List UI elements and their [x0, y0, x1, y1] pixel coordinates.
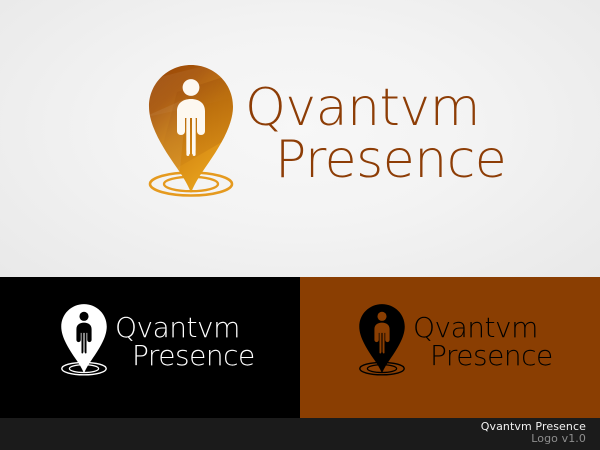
wordmark: Qvantvm Presence: [245, 84, 506, 186]
location-pin-icon: [143, 62, 239, 204]
swatch-panel-brown: Qvantvm Presence: [300, 277, 600, 418]
wordmark-line-qvantvm: Qvantvm: [245, 84, 506, 134]
wordmark-line-qvantvm: Qvantvm: [413, 315, 553, 342]
wordmark-line-presence: Presence: [132, 343, 255, 370]
solid-logo-lockup: Qvantvm Presence: [356, 302, 553, 380]
wordmark: Qvantvm Presence: [413, 315, 553, 370]
primary-logo-lockup: Qvantvm Presence: [143, 62, 506, 204]
wordmark-line-presence: Presence: [430, 343, 553, 370]
wordmark-line-presence: Presence: [275, 136, 506, 186]
footer-version-label: Logo v1.0: [481, 433, 586, 445]
logo-presentation-board: Qvantvm Presence: [0, 0, 600, 450]
location-pin-icon: [356, 302, 408, 380]
swatch-panel-black: Qvantvm Presence: [0, 277, 300, 418]
footer-bar: Qvantvm Presence Logo v1.0: [0, 418, 600, 450]
footer-caption: Qvantvm Presence Logo v1.0: [481, 421, 586, 446]
location-pin-icon: [58, 302, 110, 380]
hero-panel: Qvantvm Presence: [0, 0, 600, 277]
wordmark-line-qvantvm: Qvantvm: [115, 315, 255, 342]
wordmark: Qvantvm Presence: [115, 315, 255, 370]
reversed-logo-lockup: Qvantvm Presence: [58, 302, 255, 380]
